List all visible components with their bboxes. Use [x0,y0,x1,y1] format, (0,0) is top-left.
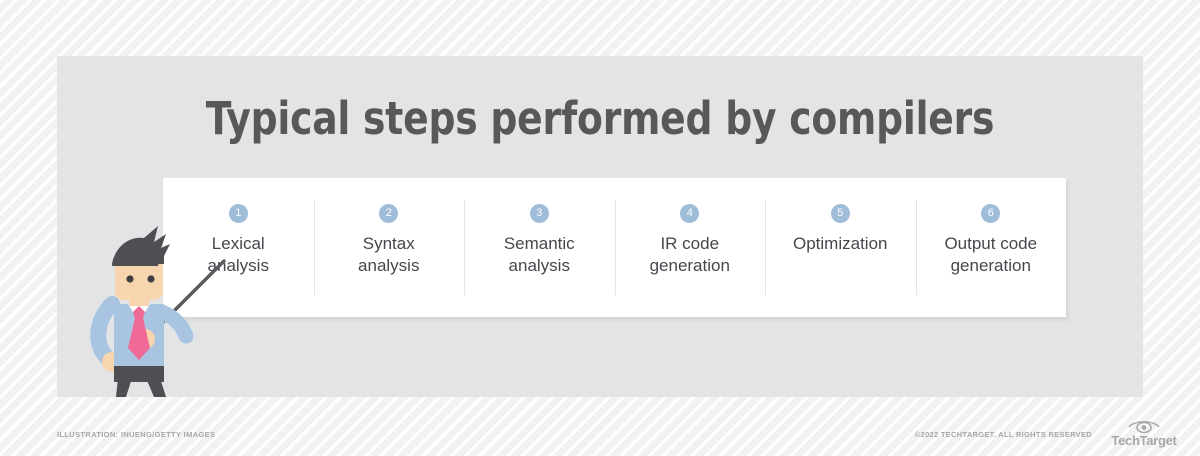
step-label: Semantic analysis [504,233,575,277]
step-number-badge: 5 [831,204,850,223]
step-item-6: 6 Output code generation [916,178,1067,317]
step-item-4: 4 IR code generation [615,178,766,317]
step-label: Optimization [793,233,887,255]
copyright-notice: ©2022 TECHTARGET. ALL RIGHTS RESERVED [915,430,1092,439]
step-number-badge: 4 [680,204,699,223]
techtarget-wordmark: TechTarget [1098,434,1190,447]
step-number-badge: 2 [379,204,398,223]
page-title: Typical steps performed by compilers [95,92,1105,145]
content-panel: Typical steps performed by compilers 1 L… [57,56,1143,397]
step-item-2: 2 Syntax analysis [314,178,465,317]
step-item-3: 3 Semantic analysis [464,178,615,317]
eye-icon [1127,418,1161,433]
steps-card: 1 Lexical analysis 2 Syntax analysis 3 S… [163,178,1066,317]
illustration-credit: ILLUSTRATION: INUENG/GETTY IMAGES [57,430,215,439]
step-item-5: 5 Optimization [765,178,916,317]
step-item-1: 1 Lexical analysis [163,178,314,317]
step-label: Syntax analysis [358,233,419,277]
step-number-badge: 3 [530,204,549,223]
step-label: Lexical analysis [208,233,269,277]
step-label: IR code generation [650,233,730,277]
techtarget-logo: TechTarget [1098,418,1190,450]
step-number-badge: 6 [981,204,1000,223]
step-number-badge: 1 [229,204,248,223]
step-label: Output code generation [944,233,1037,277]
